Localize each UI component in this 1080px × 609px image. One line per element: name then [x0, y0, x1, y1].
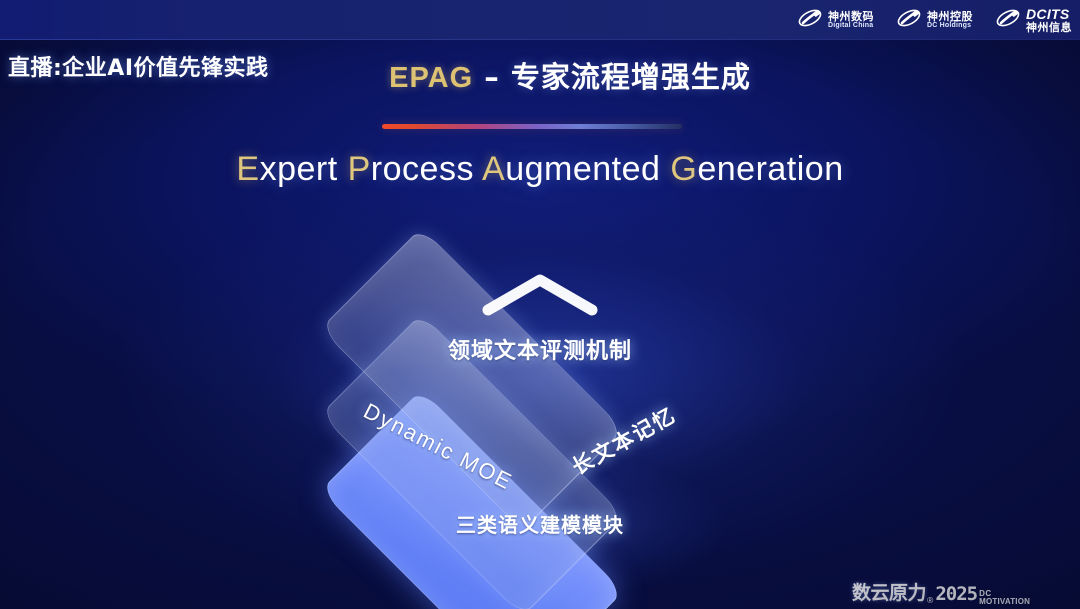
subtitle-rest: rocess — [371, 150, 474, 188]
subtitle-word: Expert — [236, 150, 337, 188]
partner-logo-dc-holdings: 神州控股 DC Holdings — [896, 7, 973, 34]
subtitle-word: Generation — [670, 150, 843, 188]
chevron-up-icon — [480, 272, 600, 318]
slide-canvas: 数云原力 ® 2025 DC MOTIVATION 神州数码 Digital C… — [0, 0, 1080, 609]
subtitle-capital: A — [482, 150, 505, 188]
partner-name-en: Digital China — [828, 22, 874, 29]
gradient-divider — [382, 124, 682, 129]
partner-logo-text: DCITS 神州信息 — [1026, 7, 1072, 33]
subtitle-word: Process — [348, 150, 474, 188]
swoosh-icon — [995, 7, 1021, 34]
partner-name-en: DC Holdings — [927, 22, 973, 29]
partner-name-cn: 神州控股 — [927, 11, 973, 23]
partner-name-cn: 神州信息 — [1026, 22, 1072, 34]
title-acronym: EPAG — [389, 62, 473, 94]
partner-name-en: DCITS — [1026, 7, 1072, 22]
title-chinese: – 专家流程增强生成 — [484, 60, 751, 94]
subtitle-rest: xpert — [260, 150, 338, 188]
partner-logo-text: 神州控股 DC Holdings — [927, 11, 973, 30]
subtitle-capital: E — [236, 150, 259, 188]
stack-label-bottom: 三类语义建模模块 — [0, 509, 1080, 538]
stack-label-top: 领域文本评测机制 — [0, 333, 1080, 365]
partner-logo-group: 神州数码 Digital China 神州控股 DC Holdings — [797, 5, 1072, 35]
subtitle-expansion: Expert Process Augmented Generation — [0, 150, 1080, 189]
subtitle-word: Augmented — [482, 150, 660, 188]
swoosh-icon — [896, 7, 922, 34]
partner-logo-digital-china: 神州数码 Digital China — [797, 7, 874, 34]
subtitle-rest: eneration — [697, 150, 843, 188]
swoosh-icon — [797, 7, 823, 34]
subtitle-capital: G — [670, 150, 697, 188]
partner-logo-dcits: DCITS 神州信息 — [995, 7, 1072, 34]
page-title: EPAG – 专家流程增强生成 — [0, 54, 1080, 96]
subtitle-capital: P — [348, 150, 371, 188]
partner-logo-text: 神州数码 Digital China — [828, 11, 874, 30]
partner-name-cn: 神州数码 — [828, 11, 874, 23]
subtitle-rest: ugmented — [505, 150, 660, 188]
